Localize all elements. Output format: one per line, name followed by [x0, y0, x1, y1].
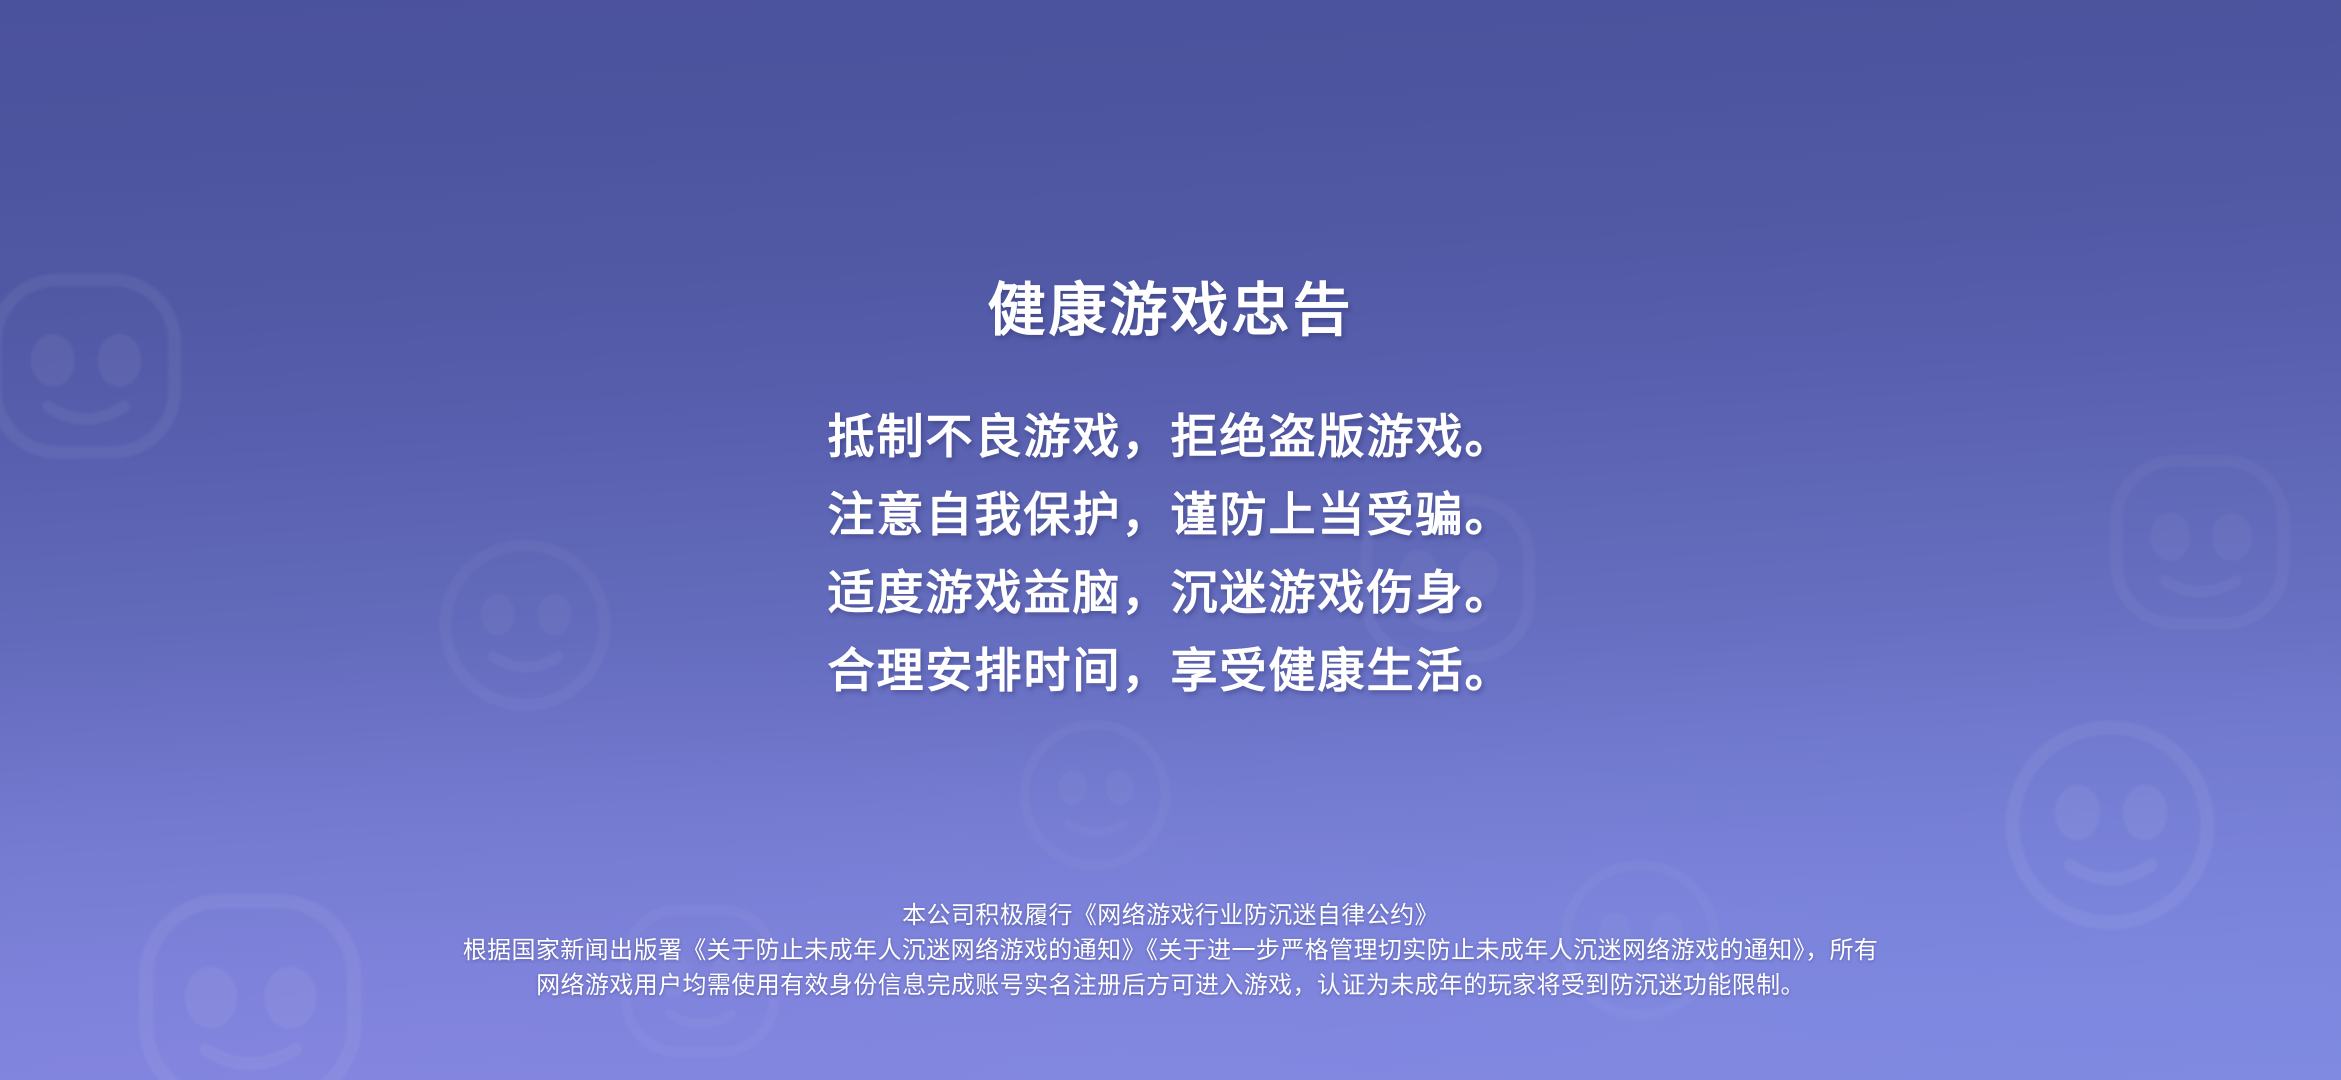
advice-slogan-line: 注意自我保护，谨防上当受骗。 [0, 476, 2341, 554]
legal-notice-line: 网络游戏用户均需使用有效身份信息完成账号实名注册后方可进入游戏，认证为未成年的玩… [120, 968, 2221, 1003]
page-title: 健康游戏忠告 [0, 282, 2341, 340]
advice-slogan-line: 合理安排时间，享受健康生活。 [0, 632, 2341, 710]
health-game-advice-splash: 健康游戏忠告 抵制不良游戏，拒绝盗版游戏。 注意自我保护，谨防上当受骗。 适度游… [0, 0, 2341, 1080]
advice-slogan-list: 抵制不良游戏，拒绝盗版游戏。 注意自我保护，谨防上当受骗。 适度游戏益脑，沉迷游… [0, 398, 2341, 710]
legal-notice: 本公司积极履行《网络游戏行业防沉迷自律公约》 根据国家新闻出版署《关于防止未成年… [0, 898, 2341, 1003]
legal-notice-line: 根据国家新闻出版署《关于防止未成年人沉迷网络游戏的通知》《关于进一步严格管理切实… [120, 933, 2221, 968]
legal-notice-line: 本公司积极履行《网络游戏行业防沉迷自律公约》 [120, 898, 2221, 933]
advice-slogan-line: 适度游戏益脑，沉迷游戏伤身。 [0, 554, 2341, 632]
advice-slogan-line: 抵制不良游戏，拒绝盗版游戏。 [0, 398, 2341, 476]
